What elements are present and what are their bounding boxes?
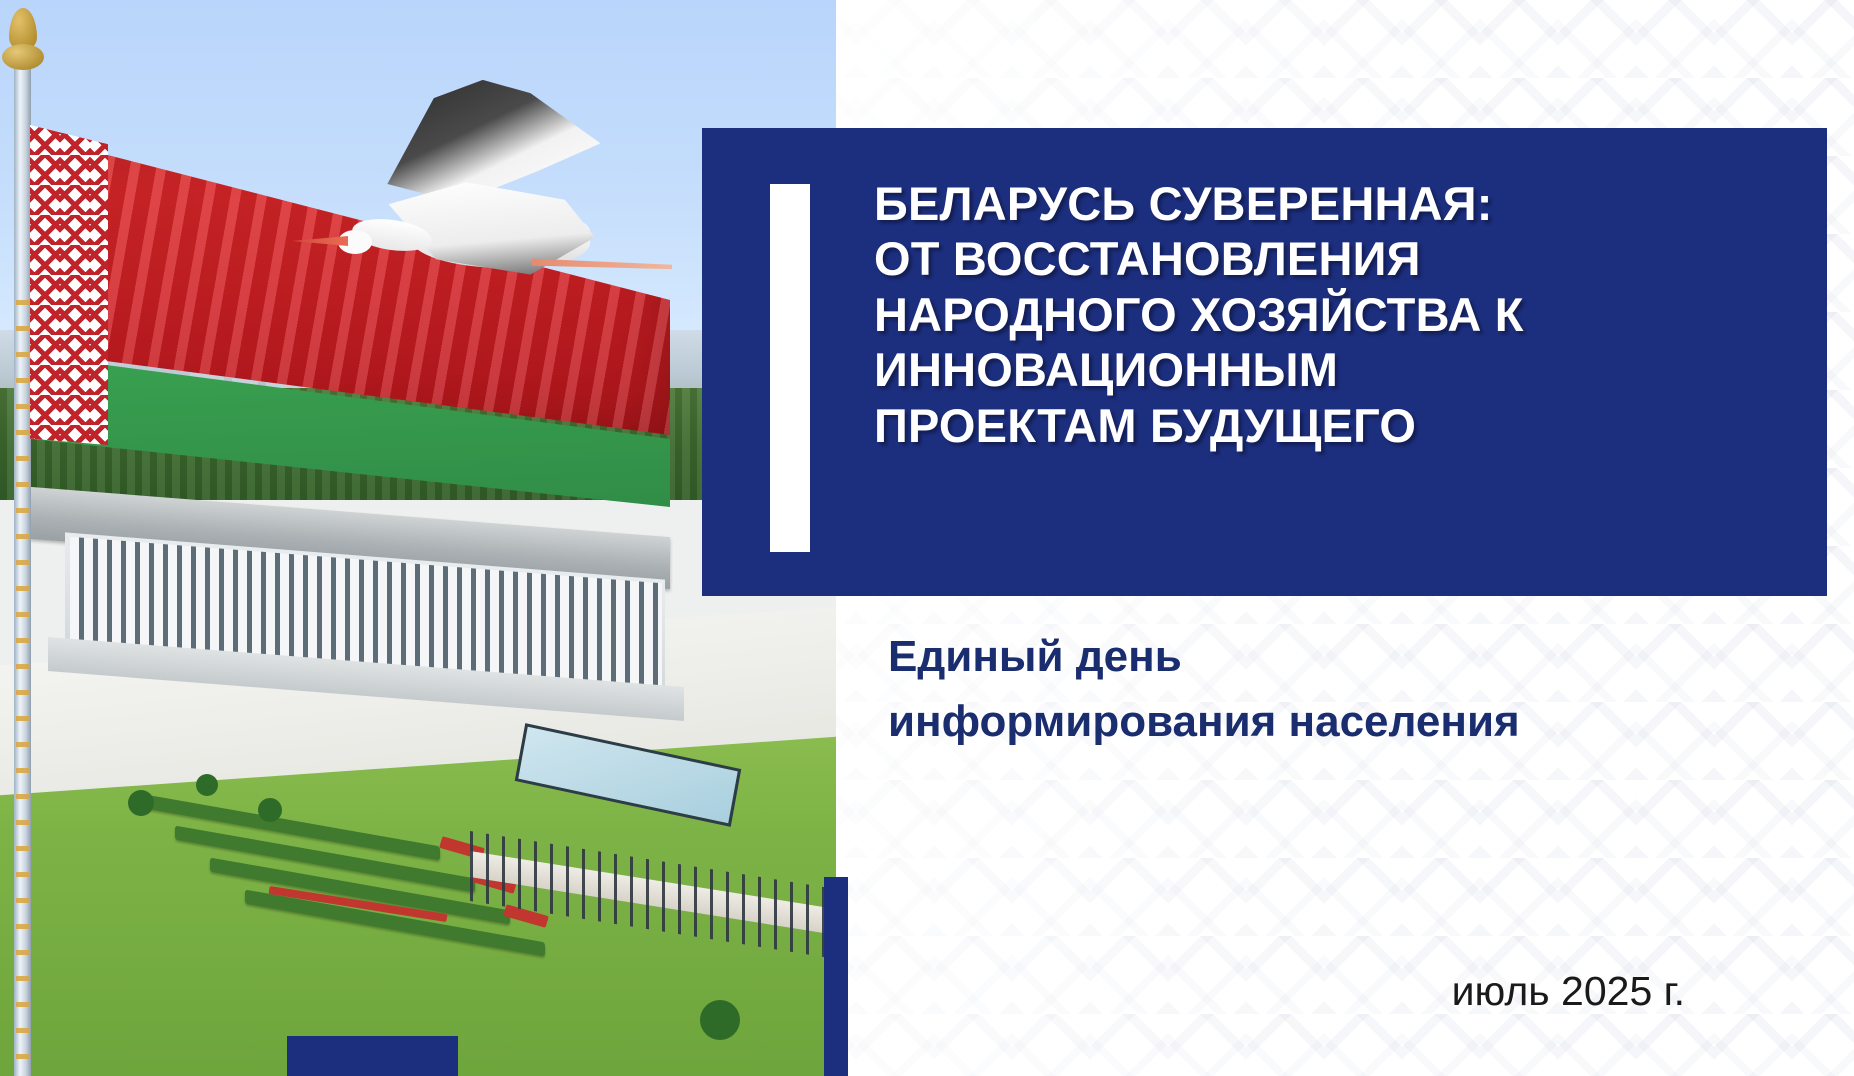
garden-tree: [700, 1000, 740, 1040]
garden-tree: [258, 798, 282, 822]
white-accent-bar: [770, 184, 810, 552]
flag-ornament-band: [30, 125, 108, 445]
presentation-slide: БЕЛАРУСЬ СУВЕРЕННАЯ: ОТ ВОССТАНОВЛЕНИЯ Н…: [0, 0, 1854, 1076]
subtitle: Единый день информирования населения: [888, 624, 1758, 754]
stork-beak: [292, 236, 348, 246]
flagpole-finial-base: [2, 44, 44, 70]
garden-tree: [128, 790, 154, 816]
garden-tree: [196, 774, 218, 796]
date-label: июль 2025 г.: [900, 968, 1685, 1015]
white-stork-in-flight: [300, 80, 660, 330]
page-title: БЕЛАРУСЬ СУВЕРЕННАЯ: ОТ ВОССТАНОВЛЕНИЯ Н…: [874, 176, 1787, 453]
blue-vertical-bar: [824, 877, 848, 1076]
blue-bottom-rectangle: [287, 1036, 458, 1076]
palace-of-independence: [30, 512, 670, 692]
title-panel: БЕЛАРУСЬ СУВЕРЕННАЯ: ОТ ВОССТАНОВЛЕНИЯ Н…: [702, 128, 1827, 596]
flagpole-ornament: [16, 300, 29, 1076]
